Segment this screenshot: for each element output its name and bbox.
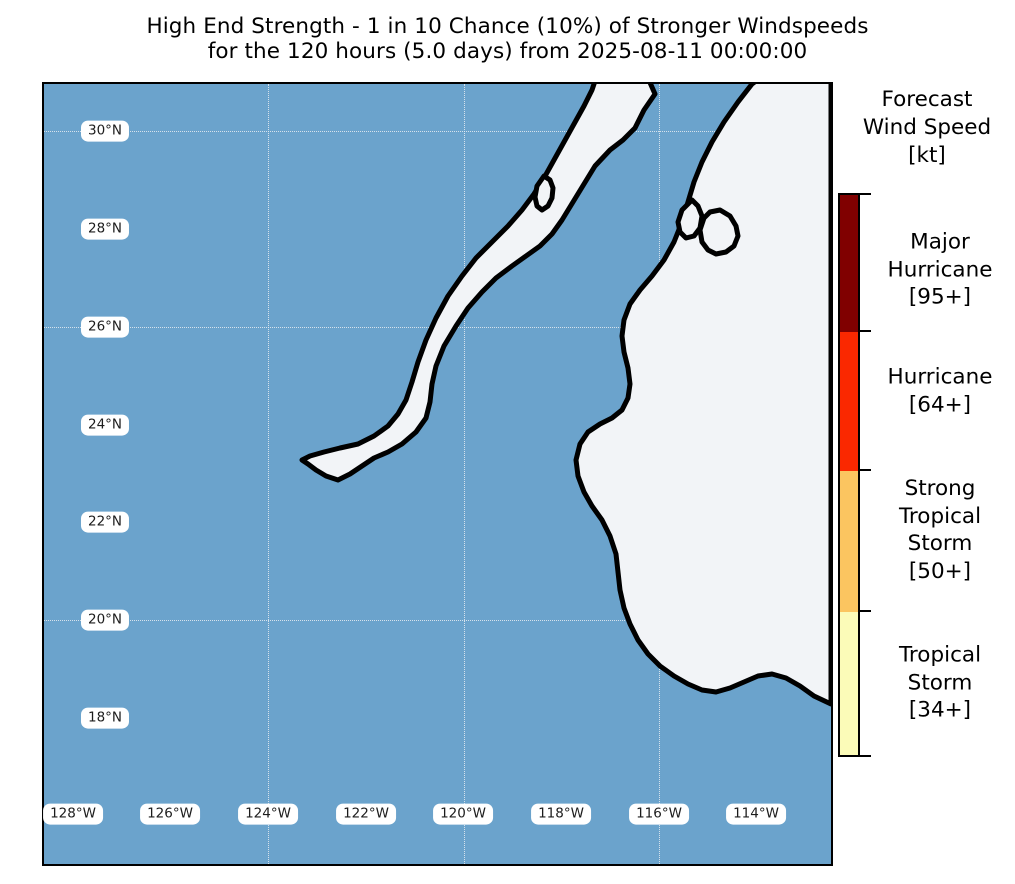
colorbar-label-line: Storm (866, 530, 1014, 558)
colorbar-label-major-hurricane: Major Hurricane [95+] (866, 229, 1014, 312)
colorbar-segment-major-hurricane (840, 195, 858, 332)
tick-label-lon-114: 114°W (726, 804, 786, 825)
colorbar-label-line: [34+] (866, 697, 1014, 725)
colorbar-label-line: Hurricane (866, 256, 1014, 284)
colorbar-segment-hurricane (840, 332, 858, 471)
isla-tiburon (700, 210, 738, 254)
tick-label-lon-126: 126°W (140, 804, 200, 825)
colorbar-title: Forecast Wind Speed [kt] (847, 86, 1007, 170)
tick-label-lat-18: 18°N (81, 708, 129, 729)
colorbar-label-line: Major (866, 229, 1014, 257)
mainland-mexico-landmass (576, 84, 831, 704)
colorbar-label-strong-tropical-storm: Strong Tropical Storm [50+] (866, 475, 1014, 585)
tick-label-lat-30: 30°N (81, 121, 129, 142)
colorbar-title-line-2: Wind Speed (847, 114, 1007, 142)
colorbar-segment-strong-tropical-storm (840, 471, 858, 612)
colorbar[interactable] (838, 193, 860, 757)
colorbar-label-hurricane: Hurricane [64+] (866, 363, 1014, 418)
colorbar-label-line: Tropical (866, 642, 1014, 670)
colorbar-tick-top (860, 193, 871, 195)
tick-label-lat-20: 20°N (81, 610, 129, 631)
colorbar-tick-50kt (860, 610, 871, 612)
tick-label-lat-26: 26°N (81, 317, 129, 338)
colorbar-tick-95kt (860, 330, 871, 332)
tick-label-lat-28: 28°N (81, 219, 129, 240)
colorbar-label-line: Storm (866, 669, 1014, 697)
colorbar-tick-64kt (860, 469, 871, 471)
colorbar-label-line: Tropical (866, 502, 1014, 530)
isla-guadalupe (535, 176, 553, 210)
tick-label-lon-116: 116°W (629, 804, 689, 825)
colorbar-label-line: [64+] (866, 391, 1014, 419)
colorbar-title-line-3: [kt] (847, 142, 1007, 170)
chart-title-line-1: High End Strength - 1 in 10 Chance (10%)… (0, 14, 1015, 39)
tick-label-lon-128: 128°W (43, 804, 103, 825)
colorbar-label-tropical-storm: Tropical Storm [34+] (866, 642, 1014, 725)
colorbar-label-line: Hurricane (866, 363, 1014, 391)
chart-title: High End Strength - 1 in 10 Chance (10%)… (0, 14, 1015, 65)
colorbar-label-line: [50+] (866, 558, 1014, 586)
colorbar-tick-bottom (860, 755, 871, 757)
colorbar-label-line: [95+] (866, 284, 1014, 312)
map-axes[interactable] (42, 82, 833, 866)
tick-label-lat-24: 24°N (81, 415, 129, 436)
tick-label-lon-124: 124°W (238, 804, 298, 825)
colorbar-label-line: Strong (866, 475, 1014, 503)
colorbar-title-line-1: Forecast (847, 86, 1007, 114)
tick-label-lat-22: 22°N (81, 512, 129, 533)
tick-label-lon-118: 118°W (531, 804, 591, 825)
chart-title-line-2: for the 120 hours (5.0 days) from 2025-0… (0, 39, 1015, 64)
colorbar-segment-tropical-storm (840, 612, 858, 757)
tick-label-lon-122: 122°W (336, 804, 396, 825)
tick-label-lon-120: 120°W (433, 804, 493, 825)
isla-cedros (678, 200, 702, 238)
coastline-layer (44, 84, 831, 864)
map-canvas (44, 84, 831, 864)
